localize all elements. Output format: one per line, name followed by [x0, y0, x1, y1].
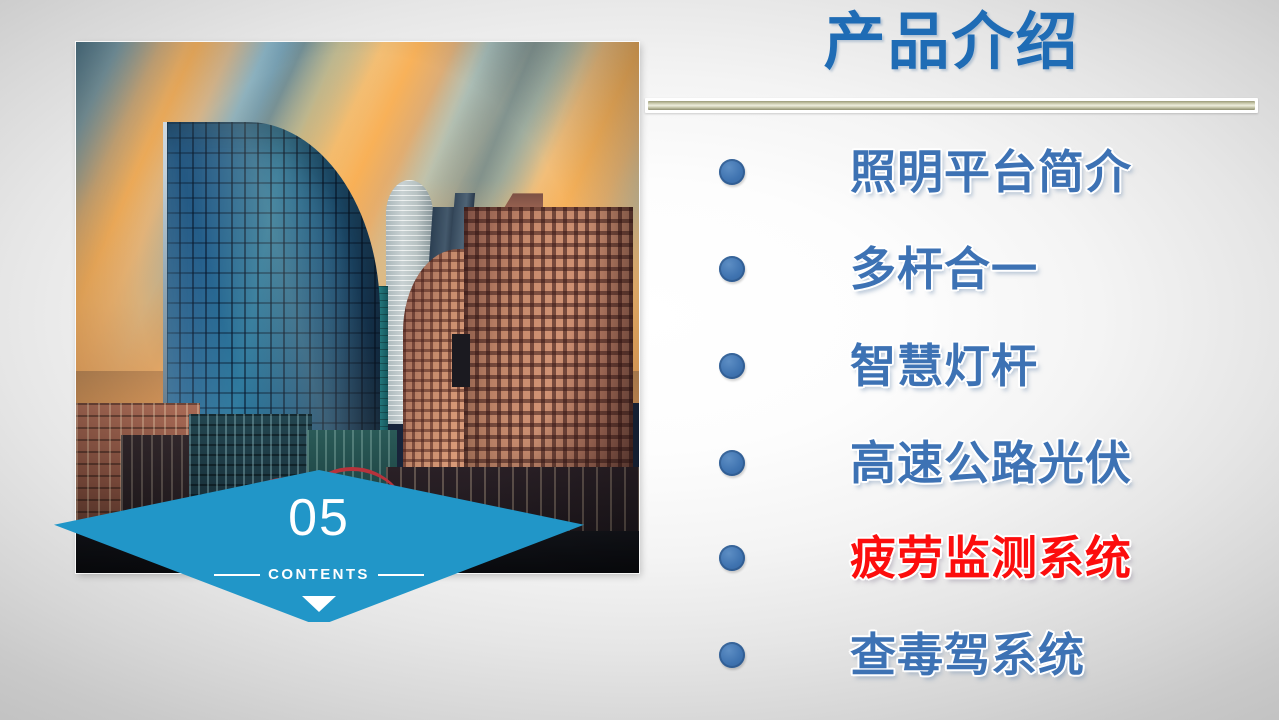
bullet-icon: [719, 256, 745, 282]
list-item[interactable]: 照明平台简介: [645, 132, 1265, 212]
list-item-label-highlighted: 疲劳监测系统: [850, 535, 1132, 581]
list-item-label: 智慧灯杆: [850, 343, 1038, 389]
list-item[interactable]: 多杆合一: [645, 229, 1265, 309]
page-title: 产品介绍: [645, 4, 1258, 82]
list-item[interactable]: 高速公路光伏: [645, 423, 1265, 503]
list-item-label: 多杆合一: [850, 246, 1038, 292]
list-item[interactable]: 疲劳监测系统: [645, 518, 1265, 598]
list-item[interactable]: 智慧灯杆: [645, 326, 1265, 406]
bullet-icon: [719, 159, 745, 185]
contents-list: 照明平台简介 多杆合一 智慧灯杆 高速公路光伏 疲劳监测系统 查毒驾系统: [645, 126, 1265, 706]
list-item-label: 照明平台简介: [850, 149, 1132, 195]
list-item-label: 高速公路光伏: [850, 440, 1132, 486]
bullet-icon: [719, 545, 745, 571]
presentation-slide: 05 CONTENTS 产品介绍 照明平台简介 多杆合一 智慧灯杆 高速公路光伏: [0, 0, 1279, 720]
list-item-label: 查毒驾系统: [850, 632, 1085, 678]
list-item[interactable]: 查毒驾系统: [645, 615, 1265, 695]
bullet-icon: [719, 353, 745, 379]
bullet-icon: [719, 450, 745, 476]
bullet-icon: [719, 642, 745, 668]
title-divider: [645, 98, 1258, 113]
